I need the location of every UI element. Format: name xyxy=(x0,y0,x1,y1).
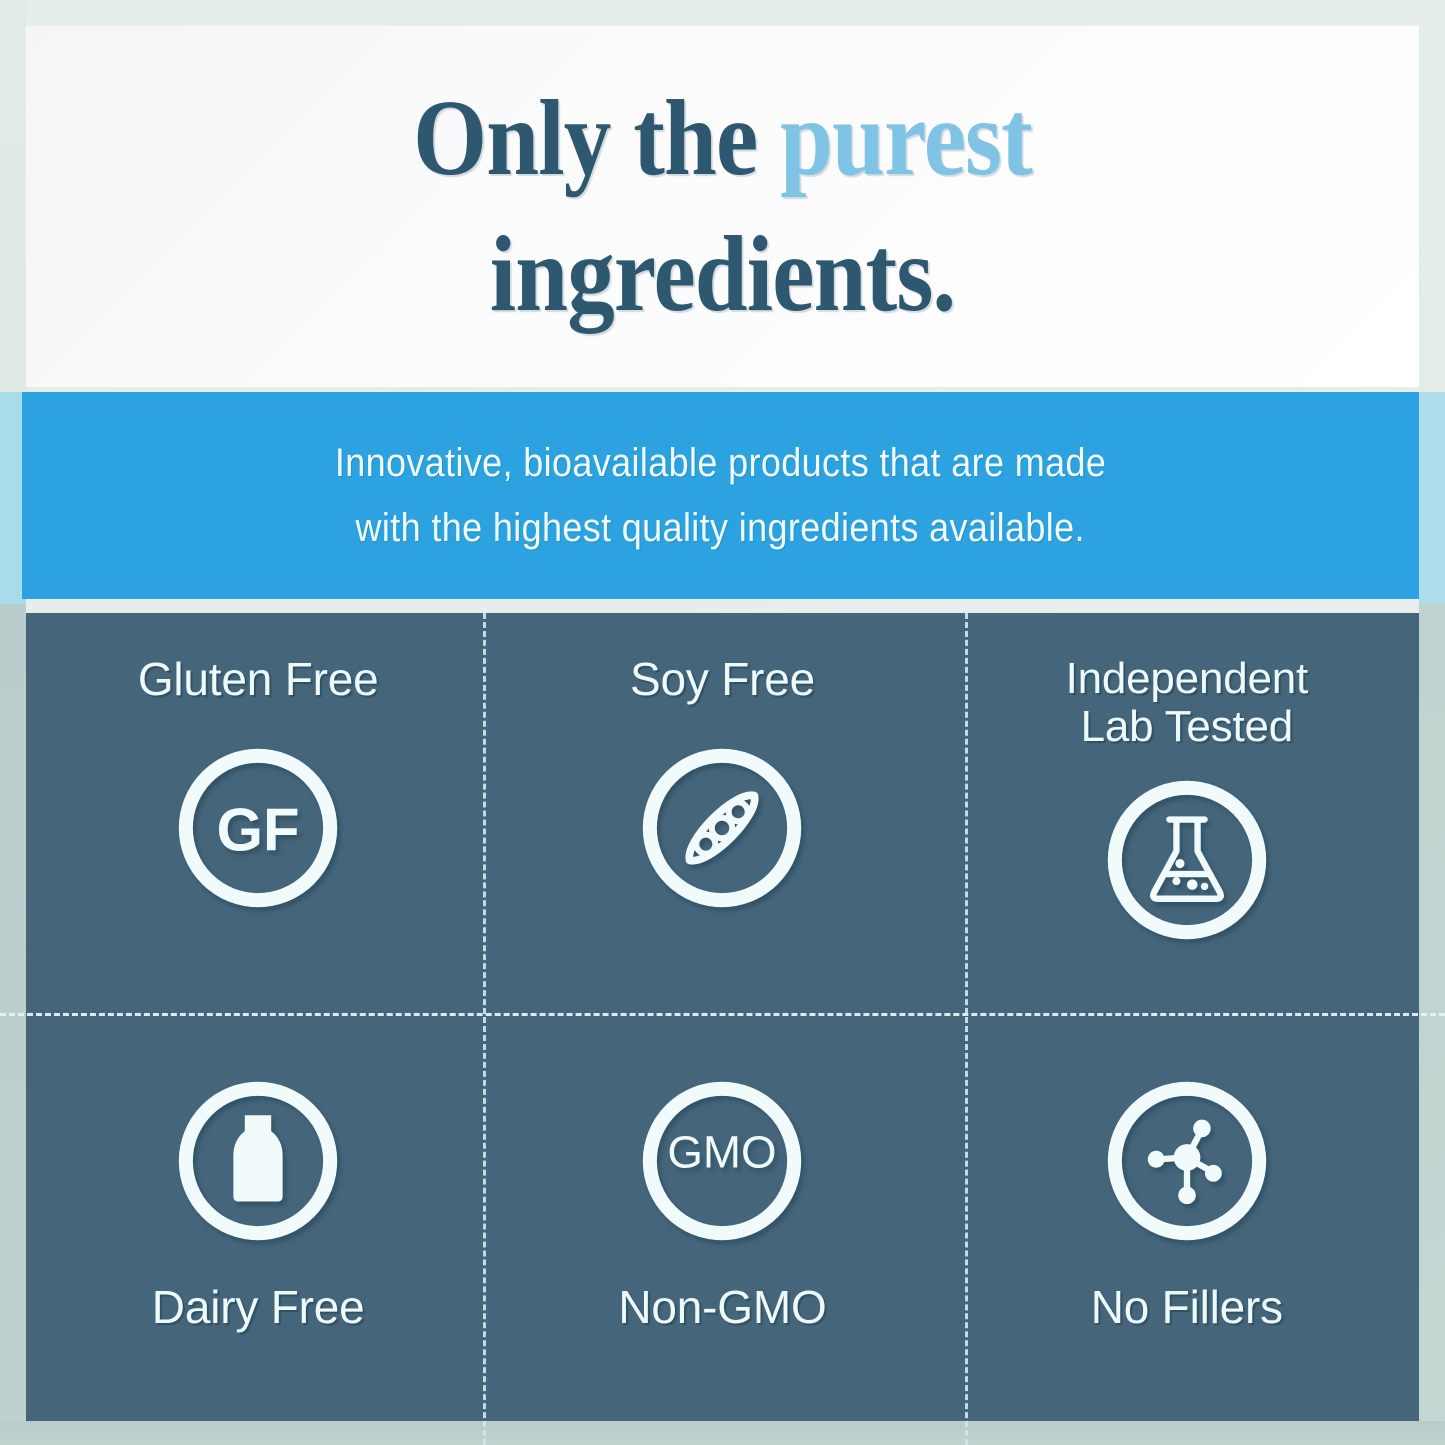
frame-strip-right-bottom xyxy=(1419,604,1445,1445)
frame-strip-right-top xyxy=(1419,0,1445,392)
gluten-free-gf-circle-icon: GF xyxy=(170,740,346,916)
feature-label-soy-free: Soy Free xyxy=(630,655,815,704)
lab-flask-circle-icon xyxy=(1099,772,1275,948)
frame-strip-left-top xyxy=(0,0,26,392)
frame-strip-right-blue xyxy=(1419,392,1445,604)
feature-grid: Gluten Free GF Soy Free xyxy=(26,613,1419,1421)
tagline-line-1: Innovative, bioavailable products that a… xyxy=(335,431,1106,496)
milk-bottle-circle-icon xyxy=(170,1073,346,1249)
frame-strip-top xyxy=(0,0,1445,26)
headline-text-light: purest xyxy=(780,79,1032,198)
feature-label-lab-tested-line1: Independent xyxy=(1066,655,1309,703)
grid-divider-vertical-1 xyxy=(483,613,486,1445)
gmo-circle-icon: GMO xyxy=(634,1073,810,1249)
feature-cell-non-gmo: GMO Non-GMO xyxy=(490,1017,954,1421)
headline-line-1: Only the purest xyxy=(413,73,1032,205)
feature-label-gluten-free: Gluten Free xyxy=(138,655,379,704)
molecule-circle-icon xyxy=(1099,1073,1275,1249)
feature-cell-gluten-free: Gluten Free GF xyxy=(26,613,490,1017)
tagline-banner: Innovative, bioavailable products that a… xyxy=(22,392,1419,599)
frame-strip-left-bottom xyxy=(0,604,26,1445)
grid-divider-horizontal xyxy=(0,1013,1445,1016)
headline-panel: Only the purest ingredients. xyxy=(26,26,1419,387)
frame-strip-bottom xyxy=(0,1421,1445,1445)
infographic-canvas: Only the purest ingredients. Innovative,… xyxy=(0,0,1445,1445)
svg-text:GMO: GMO xyxy=(668,1127,777,1178)
headline-line-2: ingredients. xyxy=(490,209,956,341)
feature-label-lab-tested-line2: Lab Tested xyxy=(1081,703,1293,751)
feature-cell-no-fillers: No Fillers xyxy=(955,1017,1419,1421)
feature-cell-soy-free: Soy Free xyxy=(490,613,954,1017)
svg-text:GF: GF xyxy=(217,796,300,863)
headline-text-dark: Only the xyxy=(413,79,757,198)
feature-cell-lab-tested: Independent Lab Tested xyxy=(955,613,1419,1017)
soybean-pod-circle-icon xyxy=(634,740,810,916)
feature-label-dairy-free: Dairy Free xyxy=(152,1283,365,1332)
feature-cell-dairy-free: Dairy Free xyxy=(26,1017,490,1421)
feature-label-no-fillers: No Fillers xyxy=(1091,1283,1283,1332)
feature-label-non-gmo: Non-GMO xyxy=(618,1283,826,1332)
headline-text-dark-2: ingredients. xyxy=(490,215,956,334)
tagline-line-2: with the highest quality ingredients ava… xyxy=(356,496,1085,561)
grid-divider-vertical-2 xyxy=(965,613,968,1445)
